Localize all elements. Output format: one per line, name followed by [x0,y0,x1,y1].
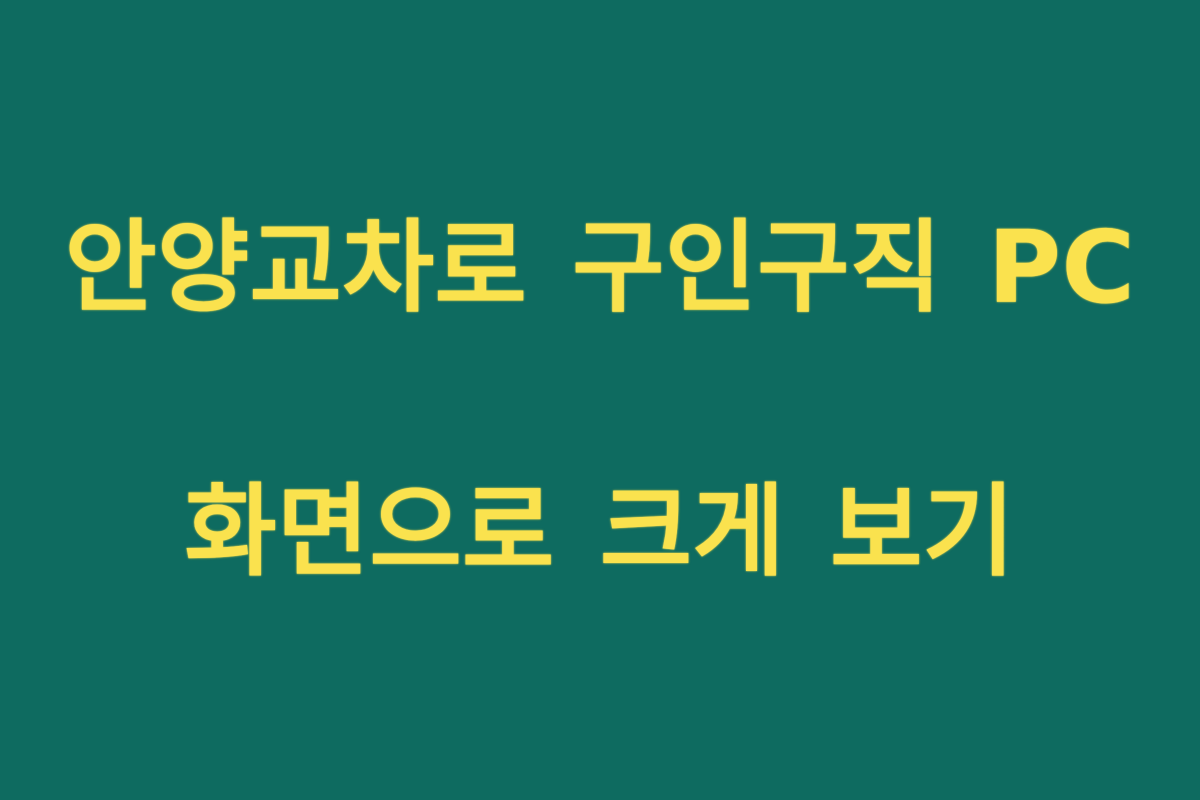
page-title: 안양교차로 구인구직 PC 화면으로 크게 보기 [30,70,1170,730]
banner-background: 안양교차로 구인구직 PC 화면으로 크게 보기 [0,0,1200,800]
headline-line-2: 화면으로 크게 보기 [30,466,1170,598]
headline-line-1: 안양교차로 구인구직 PC [30,202,1170,334]
